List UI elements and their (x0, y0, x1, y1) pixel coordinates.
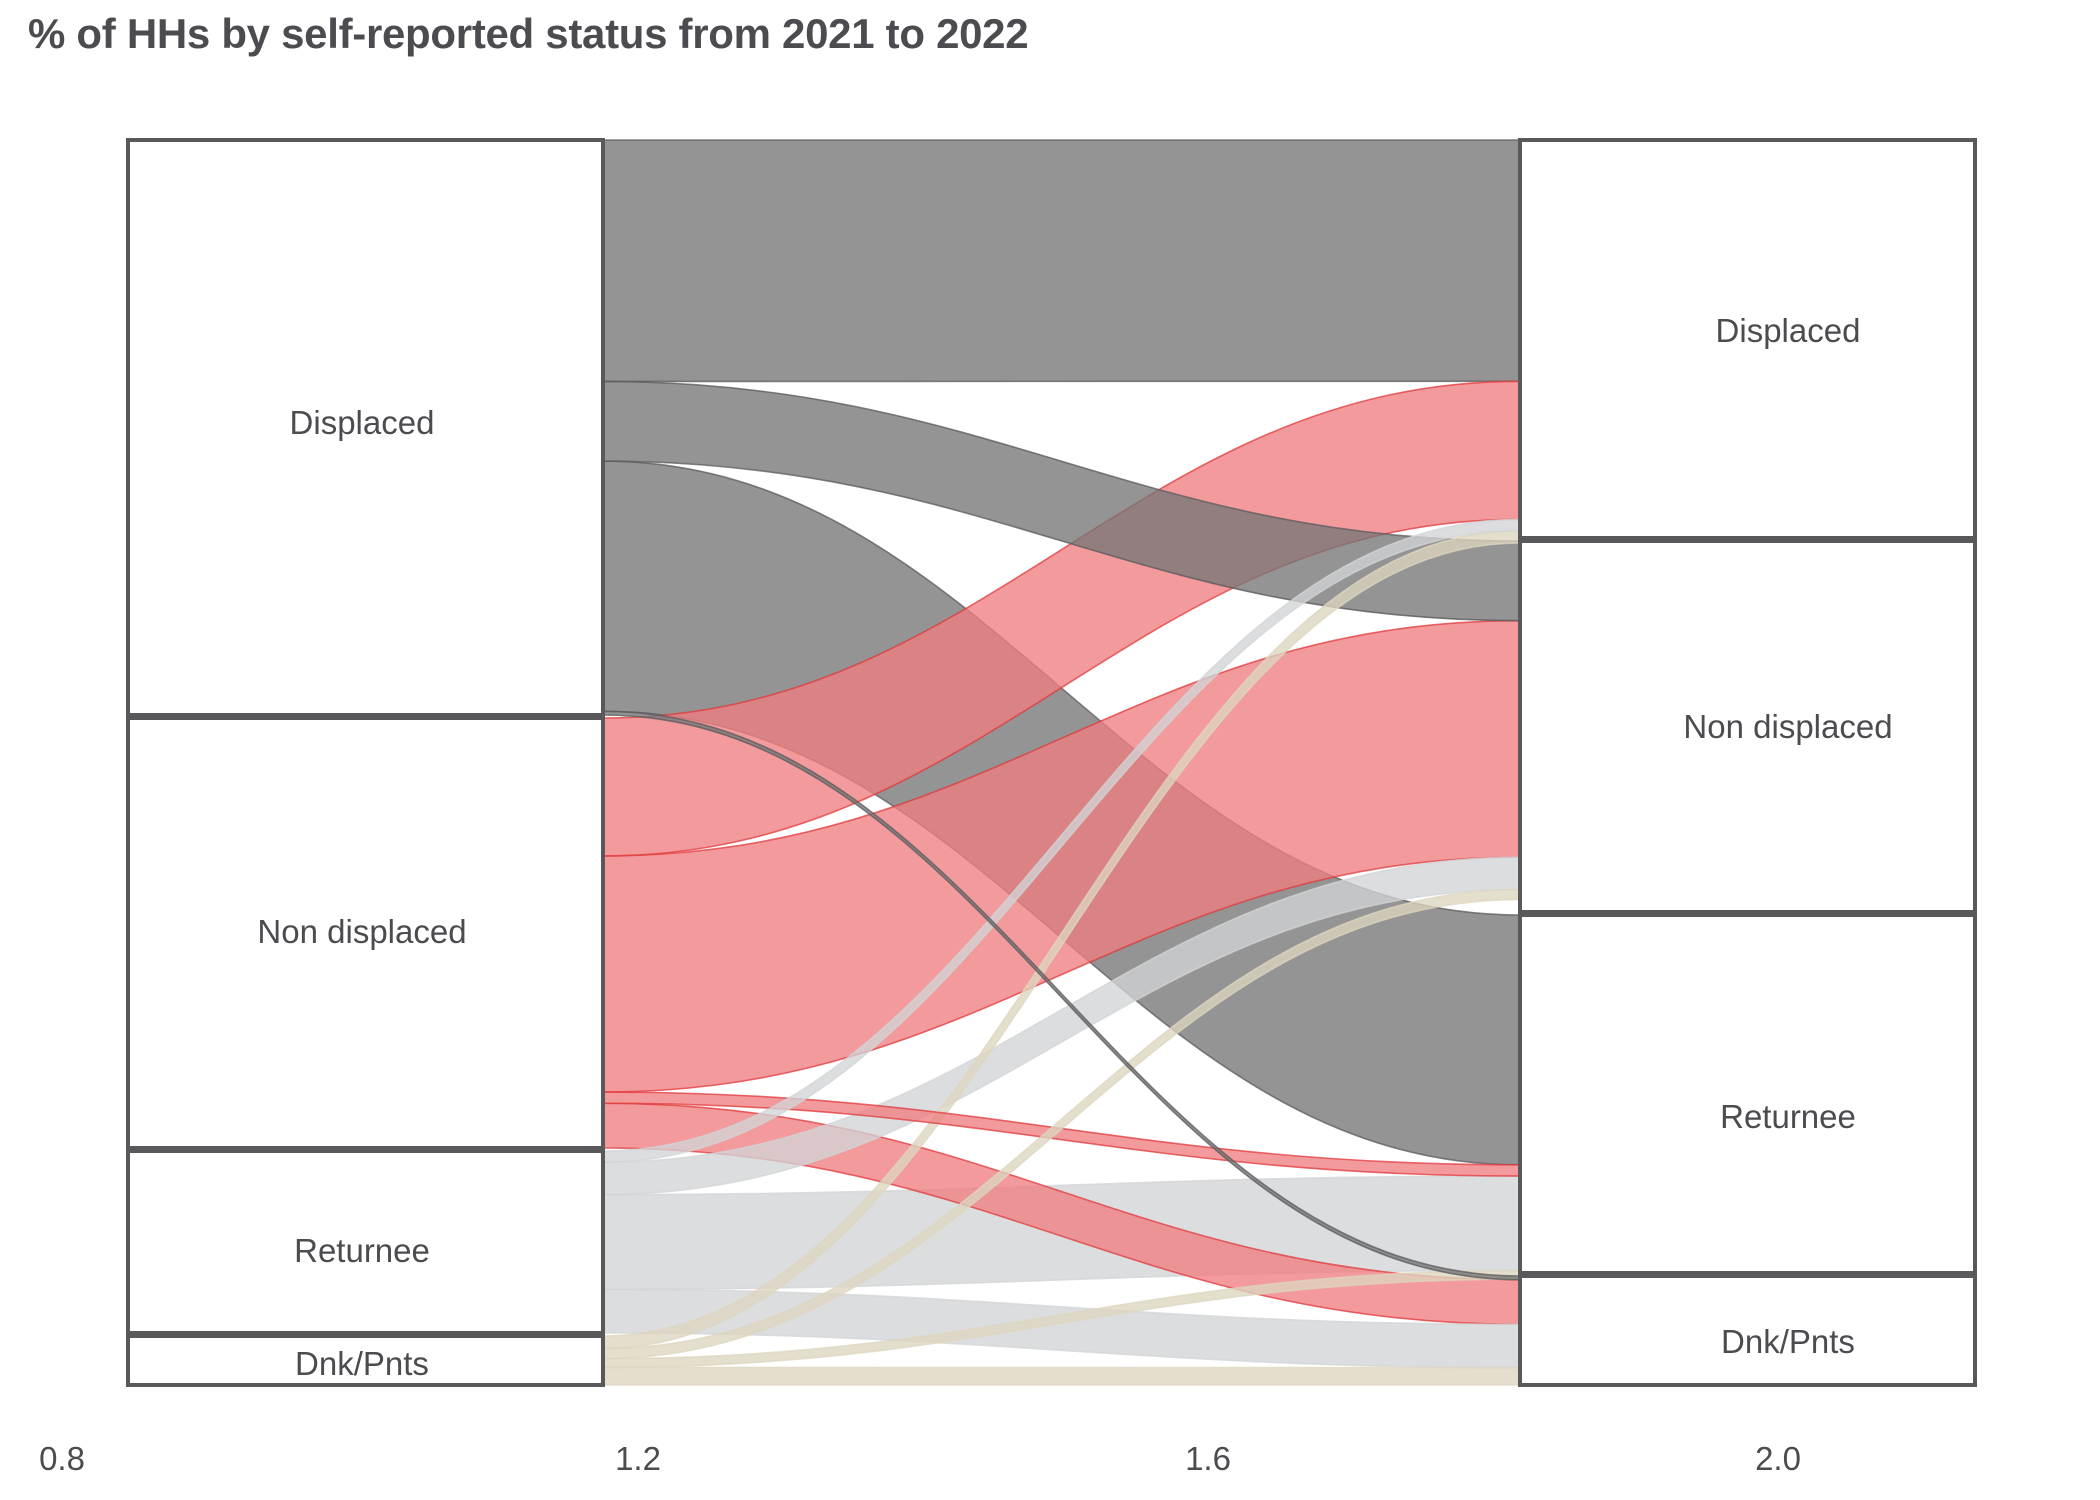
axis-tick-label-3: 2.0 (1755, 1440, 1801, 1477)
node-label-r-displaced: Displaced (1716, 312, 1861, 349)
node-label-l-displaced: Displaced (290, 404, 435, 441)
axis-tick-label-2: 1.6 (1185, 1440, 1231, 1477)
flow-ribbons-group (603, 140, 1520, 1385)
axis-tick-labels-group: 0.81.21.62.0 (39, 1440, 1801, 1477)
node-label-r-returnee: Returnee (1720, 1098, 1856, 1135)
axis-tick-label-0: 0.8 (39, 1440, 85, 1477)
node-label-r-nondisplaced: Non displaced (1683, 708, 1892, 745)
node-box-r-returnee[interactable] (1520, 915, 1975, 1273)
axis-tick-label-1: 1.2 (615, 1440, 661, 1477)
node-label-r-dnkpnts: Dnk/Pnts (1721, 1323, 1855, 1360)
flow-ribbon[interactable] (603, 140, 1520, 381)
node-label-l-nondisplaced: Non displaced (257, 913, 466, 950)
alluvial-chart-root: % of HHs by self-reported status from 20… (0, 0, 2100, 1500)
node-label-l-returnee: Returnee (294, 1232, 430, 1269)
flow-ribbon[interactable] (603, 1367, 1520, 1385)
node-label-l-dnkpnts: Dnk/Pnts (295, 1345, 429, 1382)
alluvial-svg: DisplacedNon displacedReturneeDnk/PntsDi… (0, 0, 2100, 1500)
